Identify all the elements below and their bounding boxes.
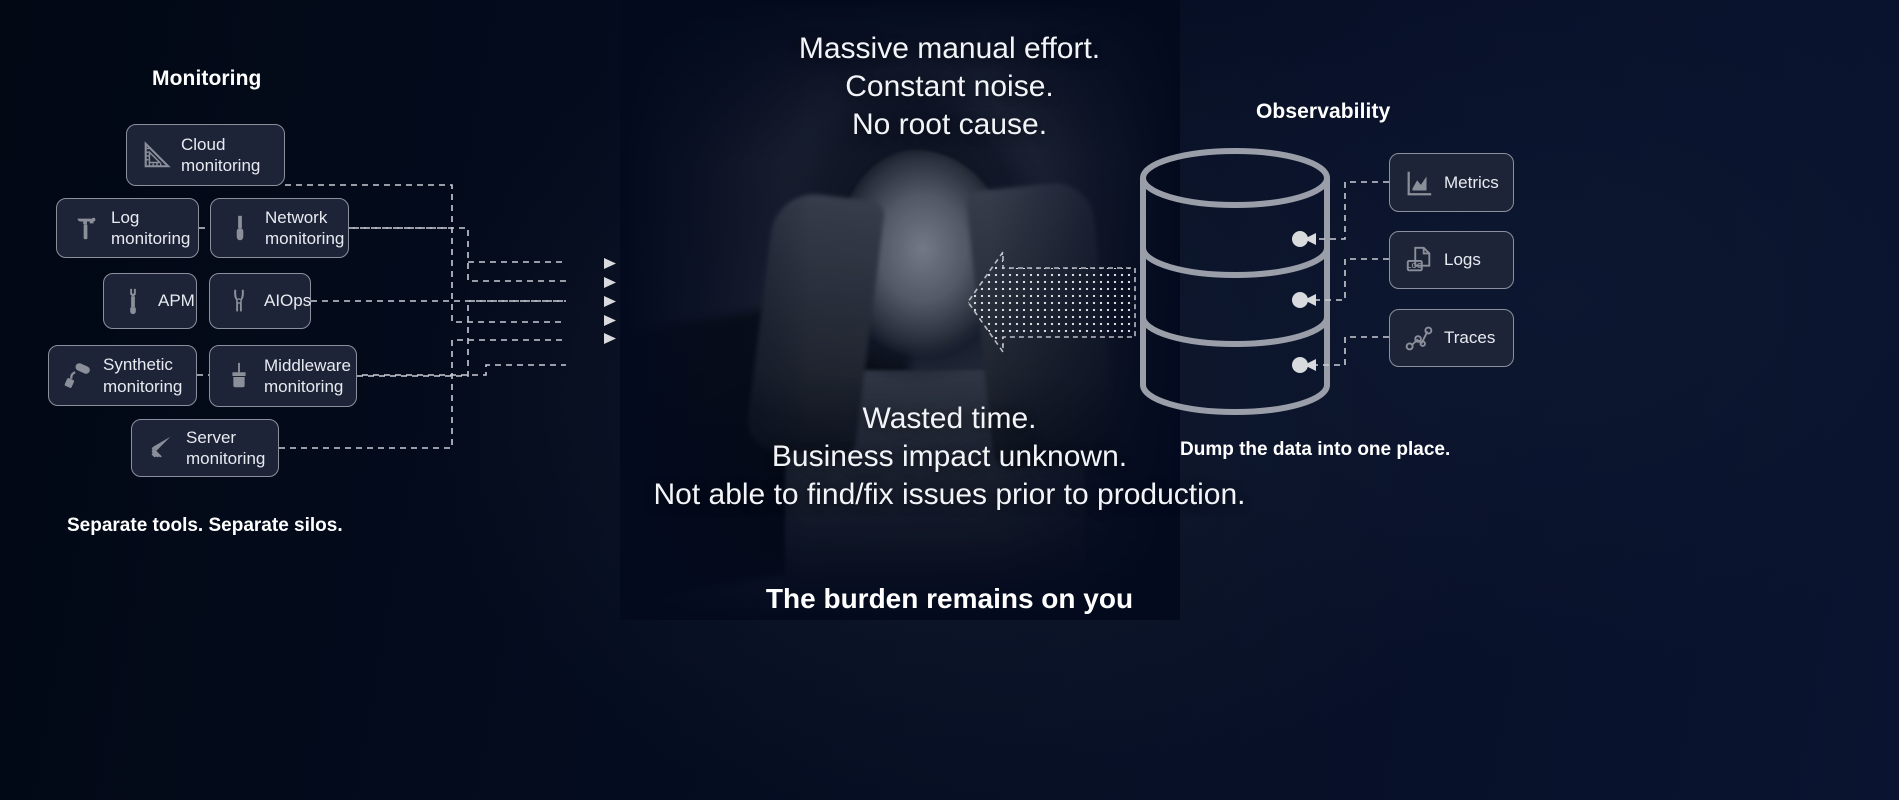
card-label: Middleware monitoring	[264, 355, 351, 398]
slide-canvas: Monitoring Observability Cloud monitorin…	[0, 0, 1899, 800]
db-top-ellipse	[1143, 151, 1327, 205]
card-label: Metrics	[1444, 172, 1499, 193]
arrowhead-2	[604, 277, 616, 288]
card-label: Log monitoring	[111, 207, 190, 250]
card-label: AIOps	[264, 290, 311, 311]
arrowhead-4	[604, 315, 616, 326]
hammer-icon	[71, 213, 101, 243]
card-network-monitoring[interactable]: Network monitoring	[210, 198, 349, 258]
wrench-icon	[118, 286, 148, 316]
pain-points-bottom: Wasted time. Business impact unknown. No…	[0, 400, 1899, 513]
triangle-ruler-icon	[141, 140, 171, 170]
card-apm[interactable]: APM	[103, 273, 197, 329]
wire-network	[349, 228, 566, 281]
card-aiops[interactable]: AIOps	[209, 273, 311, 329]
card-log-monitoring[interactable]: Log monitoring	[56, 198, 199, 258]
card-traces[interactable]: Traces	[1389, 309, 1514, 367]
card-label: Network monitoring	[265, 207, 344, 250]
database-inlet-dots	[1292, 231, 1308, 373]
db-ring-1	[1143, 248, 1327, 275]
paint-brush-icon	[224, 361, 254, 391]
monitoring-caption: Separate tools. Separate silos.	[67, 515, 343, 537]
paint-roller-icon	[63, 361, 93, 391]
card-synthetic-monitoring[interactable]: Synthetic monitoring	[48, 345, 197, 406]
arrowhead-5	[604, 333, 616, 344]
card-label: Logs	[1444, 249, 1481, 270]
area-chart-icon	[1404, 168, 1434, 198]
trace-nodes-icon	[1404, 323, 1434, 353]
db-ring-2	[1143, 317, 1327, 344]
burden-flow-arrow	[968, 252, 1135, 352]
arrowhead-3	[604, 296, 616, 307]
monitoring-arrowheads	[604, 258, 616, 344]
card-logs[interactable]: LOG Logs	[1389, 231, 1514, 289]
log-file-icon: LOG	[1404, 245, 1434, 275]
svg-text:LOG: LOG	[1407, 263, 1423, 270]
card-label: Traces	[1444, 327, 1495, 348]
pain-points-top: Massive manual effort. Constant noise. N…	[0, 30, 1899, 143]
wire-middleware	[357, 301, 566, 376]
screwdriver-icon	[225, 213, 255, 243]
pliers-icon	[224, 286, 254, 316]
card-metrics[interactable]: Metrics	[1389, 153, 1514, 212]
card-middleware-monitoring[interactable]: Middleware monitoring	[209, 345, 357, 407]
card-label: Synthetic monitoring	[103, 354, 182, 397]
conclusion-headline: The burden remains on you	[0, 583, 1899, 615]
card-label: APM	[158, 290, 195, 311]
arrowhead-1	[604, 258, 616, 269]
